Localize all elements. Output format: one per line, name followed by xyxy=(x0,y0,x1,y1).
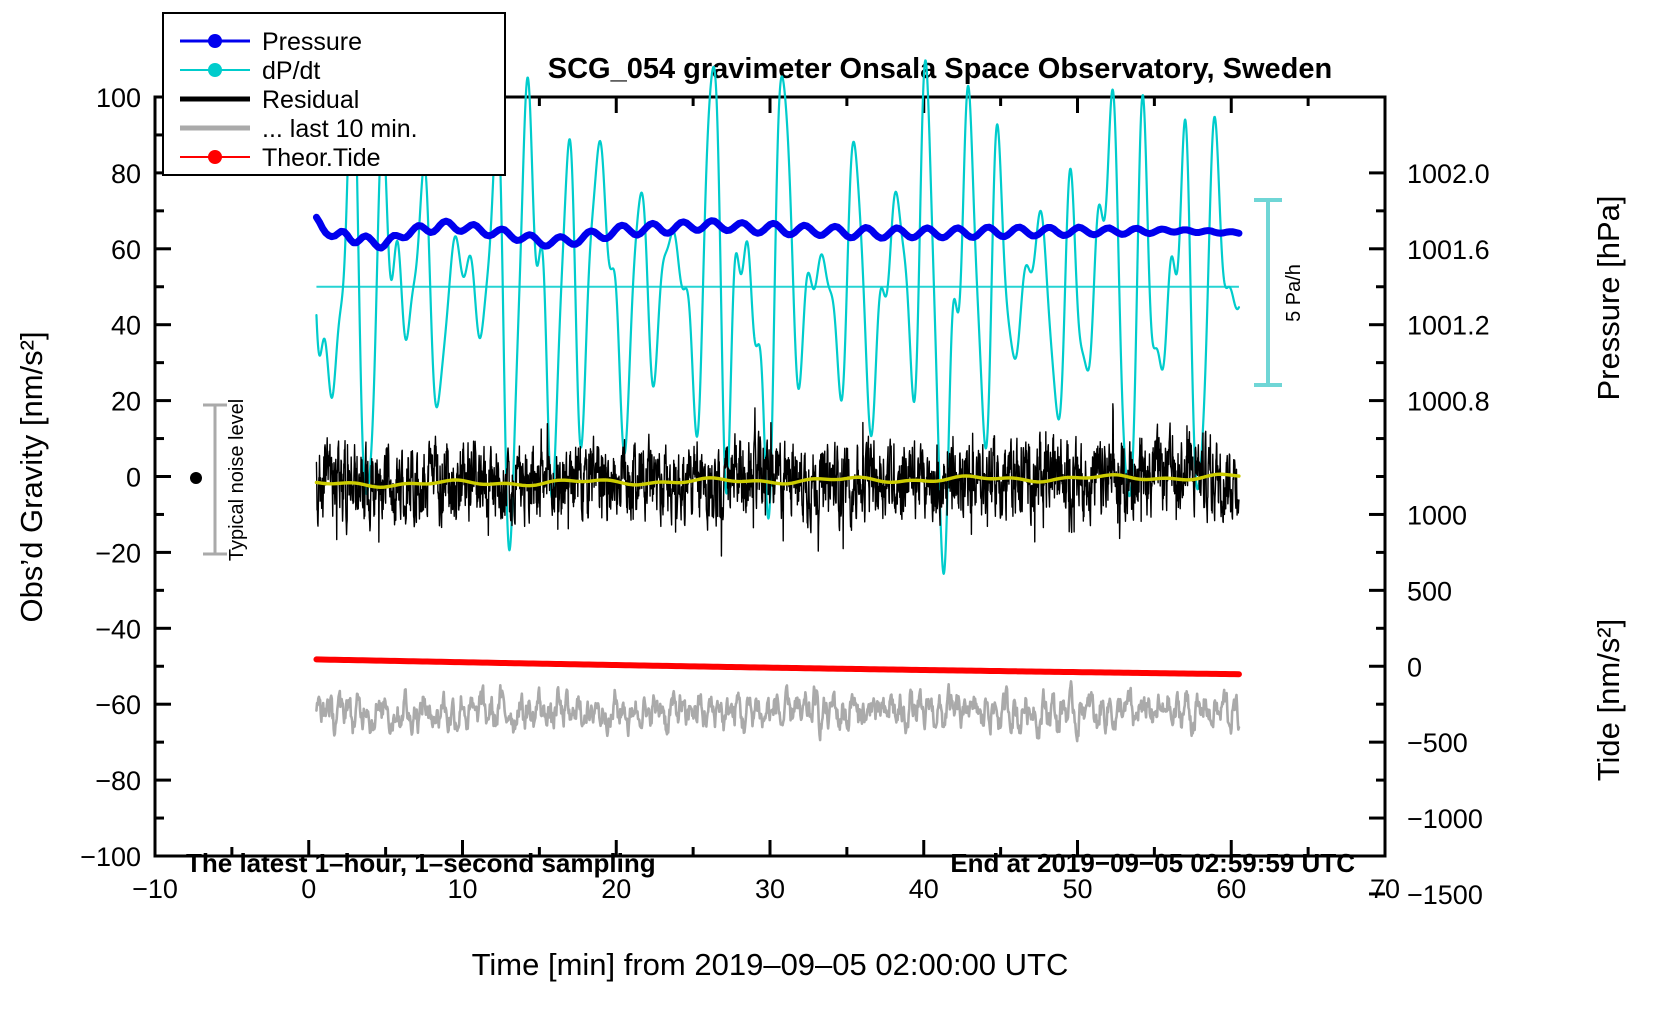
y-axis-right-pressure-tick-label: 1000.8 xyxy=(1407,387,1490,417)
x-axis-tick-label: 10 xyxy=(447,874,477,904)
y-axis-right-tide-tick-label: −500 xyxy=(1407,728,1468,758)
y-axis-left-tick-label: 40 xyxy=(111,311,141,341)
x-axis-tick-label: 30 xyxy=(755,874,785,904)
page-title: SCG_054 gravimeter Onsala Space Observat… xyxy=(548,53,1332,85)
y-axis-left-tick-label: −40 xyxy=(95,614,141,644)
y-axis-right-tide-tick-label: 1000 xyxy=(1407,500,1467,530)
x-axis-tick-label: −10 xyxy=(132,874,178,904)
legend-item-label: dP/dt xyxy=(262,57,320,85)
y-axis-left-tick-label: −20 xyxy=(95,538,141,568)
y-axis-right-pressure-tick-label: 1001.6 xyxy=(1407,235,1490,265)
gravimeter-chart: 100806040200−20−40−60−80−100 −1001020304… xyxy=(0,0,1660,1020)
y-axis-right-tide-title: Tide [nm/s²] xyxy=(1591,619,1626,782)
y-axis-right-tide-tick-label: −1000 xyxy=(1407,804,1483,834)
legend-item-label: Pressure xyxy=(262,28,362,56)
legend-item-label: Residual xyxy=(262,86,359,114)
y-axis-left-tick-label: −80 xyxy=(95,766,141,796)
x-axis-tick-label: 60 xyxy=(1216,874,1246,904)
legend[interactable]: PressuredP/dtResidual... last 10 min.The… xyxy=(163,13,505,175)
x-axis-tick-label: 70 xyxy=(1370,874,1400,904)
y-axis-right-tide-tick-label: 500 xyxy=(1407,576,1452,606)
y-axis-left-title: Obs’d Gravity [nm/s²] xyxy=(14,331,49,622)
y-axis-right-pressure-tick-label: 1002.0 xyxy=(1407,159,1490,189)
x-axis-tick-label: 40 xyxy=(909,874,939,904)
legend-swatch-marker xyxy=(208,63,222,77)
y-axis-left-tick-label: 80 xyxy=(111,159,141,189)
legend-swatch-marker xyxy=(208,150,222,164)
y-axis-left-tick-label: 100 xyxy=(96,83,141,113)
x-axis-tick-label: 50 xyxy=(1062,874,1092,904)
y-axis-right-pressure-tick-label: 1001.2 xyxy=(1407,311,1490,341)
x-axis-title: Time [min] from 2019–09–05 02:00:00 UTC xyxy=(472,947,1069,982)
y-axis-right-tide-tick-label: 0 xyxy=(1407,652,1422,682)
legend-swatch-marker xyxy=(208,34,222,48)
bottom-right-annotation: End at 2019−09−05 02:59:59 UTC xyxy=(950,848,1355,878)
x-axis-tick-label: 20 xyxy=(601,874,631,904)
y-axis-right-tide-tick-label: −1500 xyxy=(1407,880,1483,910)
y-axis-left-tick-label: 20 xyxy=(111,387,141,417)
scale-bar-label: 5 Pa/h xyxy=(1283,264,1305,322)
y-axis-left-tick-label: −60 xyxy=(95,690,141,720)
y-axis-right-pressure-title: Pressure [hPa] xyxy=(1591,195,1626,400)
noise-level-label: Typical noise level xyxy=(226,399,248,561)
x-axis-tick-label: 0 xyxy=(301,874,316,904)
y-axis-left-tick-label: 60 xyxy=(111,235,141,265)
legend-item-label: Theor.Tide xyxy=(262,144,381,172)
legend-item-label: ... last 10 min. xyxy=(262,115,418,143)
bottom-left-annotation: The latest 1–hour, 1–second sampling xyxy=(186,848,656,878)
y-axis-left-tick-label: −100 xyxy=(80,842,141,872)
noise-center-dot xyxy=(190,472,202,484)
y-axis-left-tick-label: 0 xyxy=(126,463,141,493)
